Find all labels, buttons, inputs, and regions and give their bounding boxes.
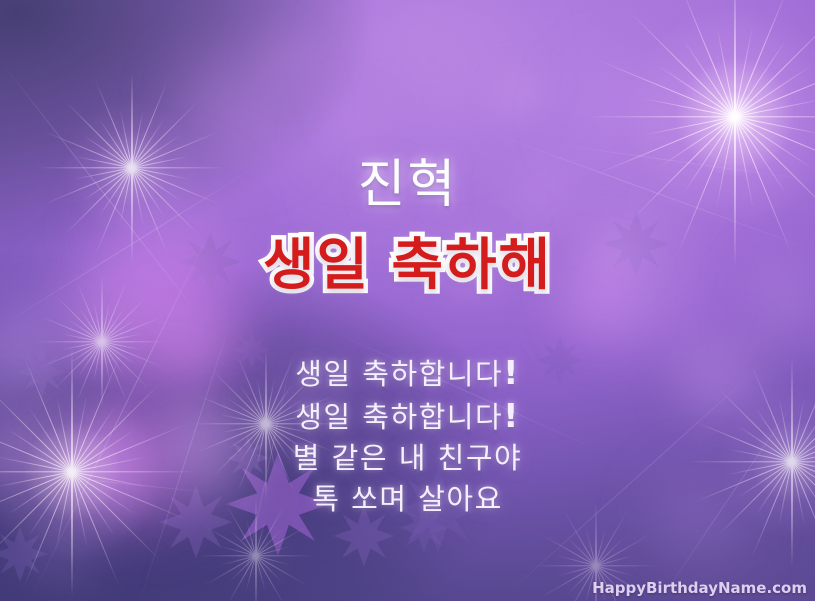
exclamation-mark: !	[503, 396, 520, 435]
card-text-layer: 진혁 생일 축하해 생일 축하합니다!생일 축하합니다!별 같은 내 친구야톡 …	[0, 0, 815, 601]
birthday-wishes-text: 생일 축하합니다!생일 축하합니다!별 같은 내 친구야톡 쏘며 살아요	[0, 352, 815, 520]
exclamation-mark: !	[503, 353, 520, 392]
birthday-greeting: 생일 축하해	[0, 237, 815, 296]
wish-line: 생일 축하합니다!	[0, 352, 815, 395]
wish-line: 생일 축하합니다!	[0, 395, 815, 438]
site-watermark: HappyBirthdayName.com	[592, 579, 807, 597]
wish-line: 톡 쏘며 살아요	[0, 479, 815, 520]
wish-line: 별 같은 내 친구야	[0, 438, 815, 479]
recipient-name: 진혁	[0, 158, 815, 213]
birthday-card: 진혁 생일 축하해 생일 축하합니다!생일 축하합니다!별 같은 내 친구야톡 …	[0, 0, 815, 601]
